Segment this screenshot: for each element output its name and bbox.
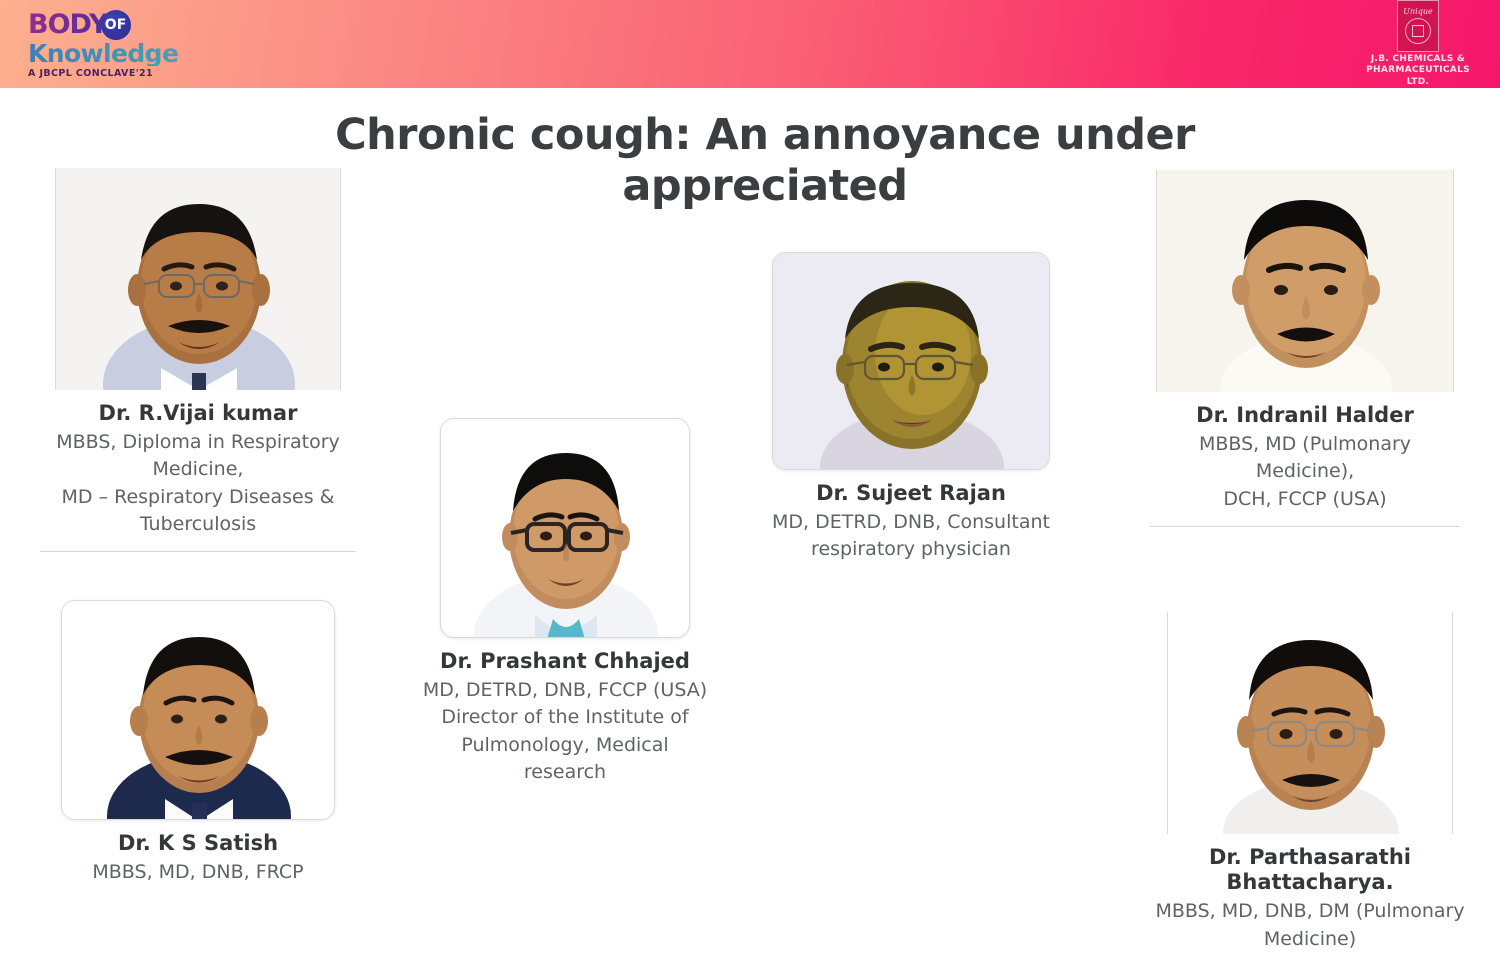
speaker-name: Dr. R.Vijai kumar	[40, 401, 356, 426]
speaker-photo-halder	[1156, 170, 1454, 392]
slide-title: Chronic cough: An annoyance under apprec…	[330, 110, 1200, 211]
logo-tagline: A JBCPL CONCLAVE'21	[28, 68, 188, 79]
speaker-name: Dr. Sujeet Rajan	[766, 481, 1056, 506]
speaker-card-chhajed: Dr. Prashant Chhajed MD, DETRD, DNB, FCC…	[420, 418, 710, 786]
speaker-credentials: MBBS, MD, DNB, DM (Pulmonary Medicine)	[1145, 898, 1475, 952]
emblem-script-text: Unique	[1403, 8, 1432, 16]
speaker-card-satish: Dr. K S Satish MBBS, MD, DNB, FRCP	[40, 600, 356, 886]
emblem-seal-icon	[1405, 18, 1431, 44]
speaker-card-halder: Dr. Indranil Halder MBBS, MD (Pulmonary …	[1150, 170, 1460, 527]
speaker-photo-vijai	[55, 168, 341, 390]
speaker-name: Dr. Parthasarathi Bhattacharya.	[1145, 845, 1475, 895]
speaker-card-rajan: Dr. Sujeet Rajan MD, DETRD, DNB, Consult…	[766, 252, 1056, 564]
speaker-credentials: MD, DETRD, DNB, Consultant respiratory p…	[766, 509, 1056, 563]
speaker-name: Dr. K S Satish	[40, 831, 356, 856]
logo-top-row: BODY OF	[28, 10, 188, 40]
speaker-credentials: MD, DETRD, DNB, FCCP (USA) Director of t…	[420, 677, 710, 786]
unique-emblem-icon: Unique	[1397, 0, 1439, 52]
speaker-credentials: MBBS, MD (Pulmonary Medicine), DCH, FCCP…	[1150, 431, 1460, 512]
speaker-photo-partha	[1167, 612, 1453, 834]
speaker-photo-rajan	[772, 252, 1050, 470]
jb-name-line1: J.B. CHEMICALS &	[1362, 54, 1474, 65]
body-of-knowledge-logo: BODY OF Knowledge A JBCPL CONCLAVE'21	[28, 10, 188, 79]
jb-name-line2: PHARMACEUTICALS LTD.	[1362, 65, 1474, 88]
logo-badge-of: OF	[101, 10, 131, 40]
speaker-name: Dr. Prashant Chhajed	[420, 649, 710, 674]
speaker-divider	[40, 551, 356, 552]
speaker-credentials: MBBS, MD, DNB, FRCP	[40, 859, 356, 886]
speaker-photo-chhajed	[440, 418, 690, 638]
jb-chemicals-logo: Unique J.B. CHEMICALS & PHARMACEUTICALS …	[1362, 0, 1474, 88]
speaker-card-partha: Dr. Parthasarathi Bhattacharya. MBBS, MD…	[1145, 612, 1475, 953]
speaker-photo-satish	[61, 600, 335, 820]
speaker-card-vijai: Dr. R.Vijai kumar MBBS, Diploma in Respi…	[40, 168, 356, 552]
header-bar: BODY OF Knowledge A JBCPL CONCLAVE'21 Un…	[0, 0, 1500, 88]
speaker-divider	[1150, 526, 1460, 527]
logo-word-body: BODY	[28, 11, 108, 38]
speaker-credentials: MBBS, Diploma in Respiratory Medicine, M…	[40, 429, 356, 538]
logo-word-knowledge: Knowledge	[28, 41, 188, 66]
speaker-name: Dr. Indranil Halder	[1150, 403, 1460, 428]
